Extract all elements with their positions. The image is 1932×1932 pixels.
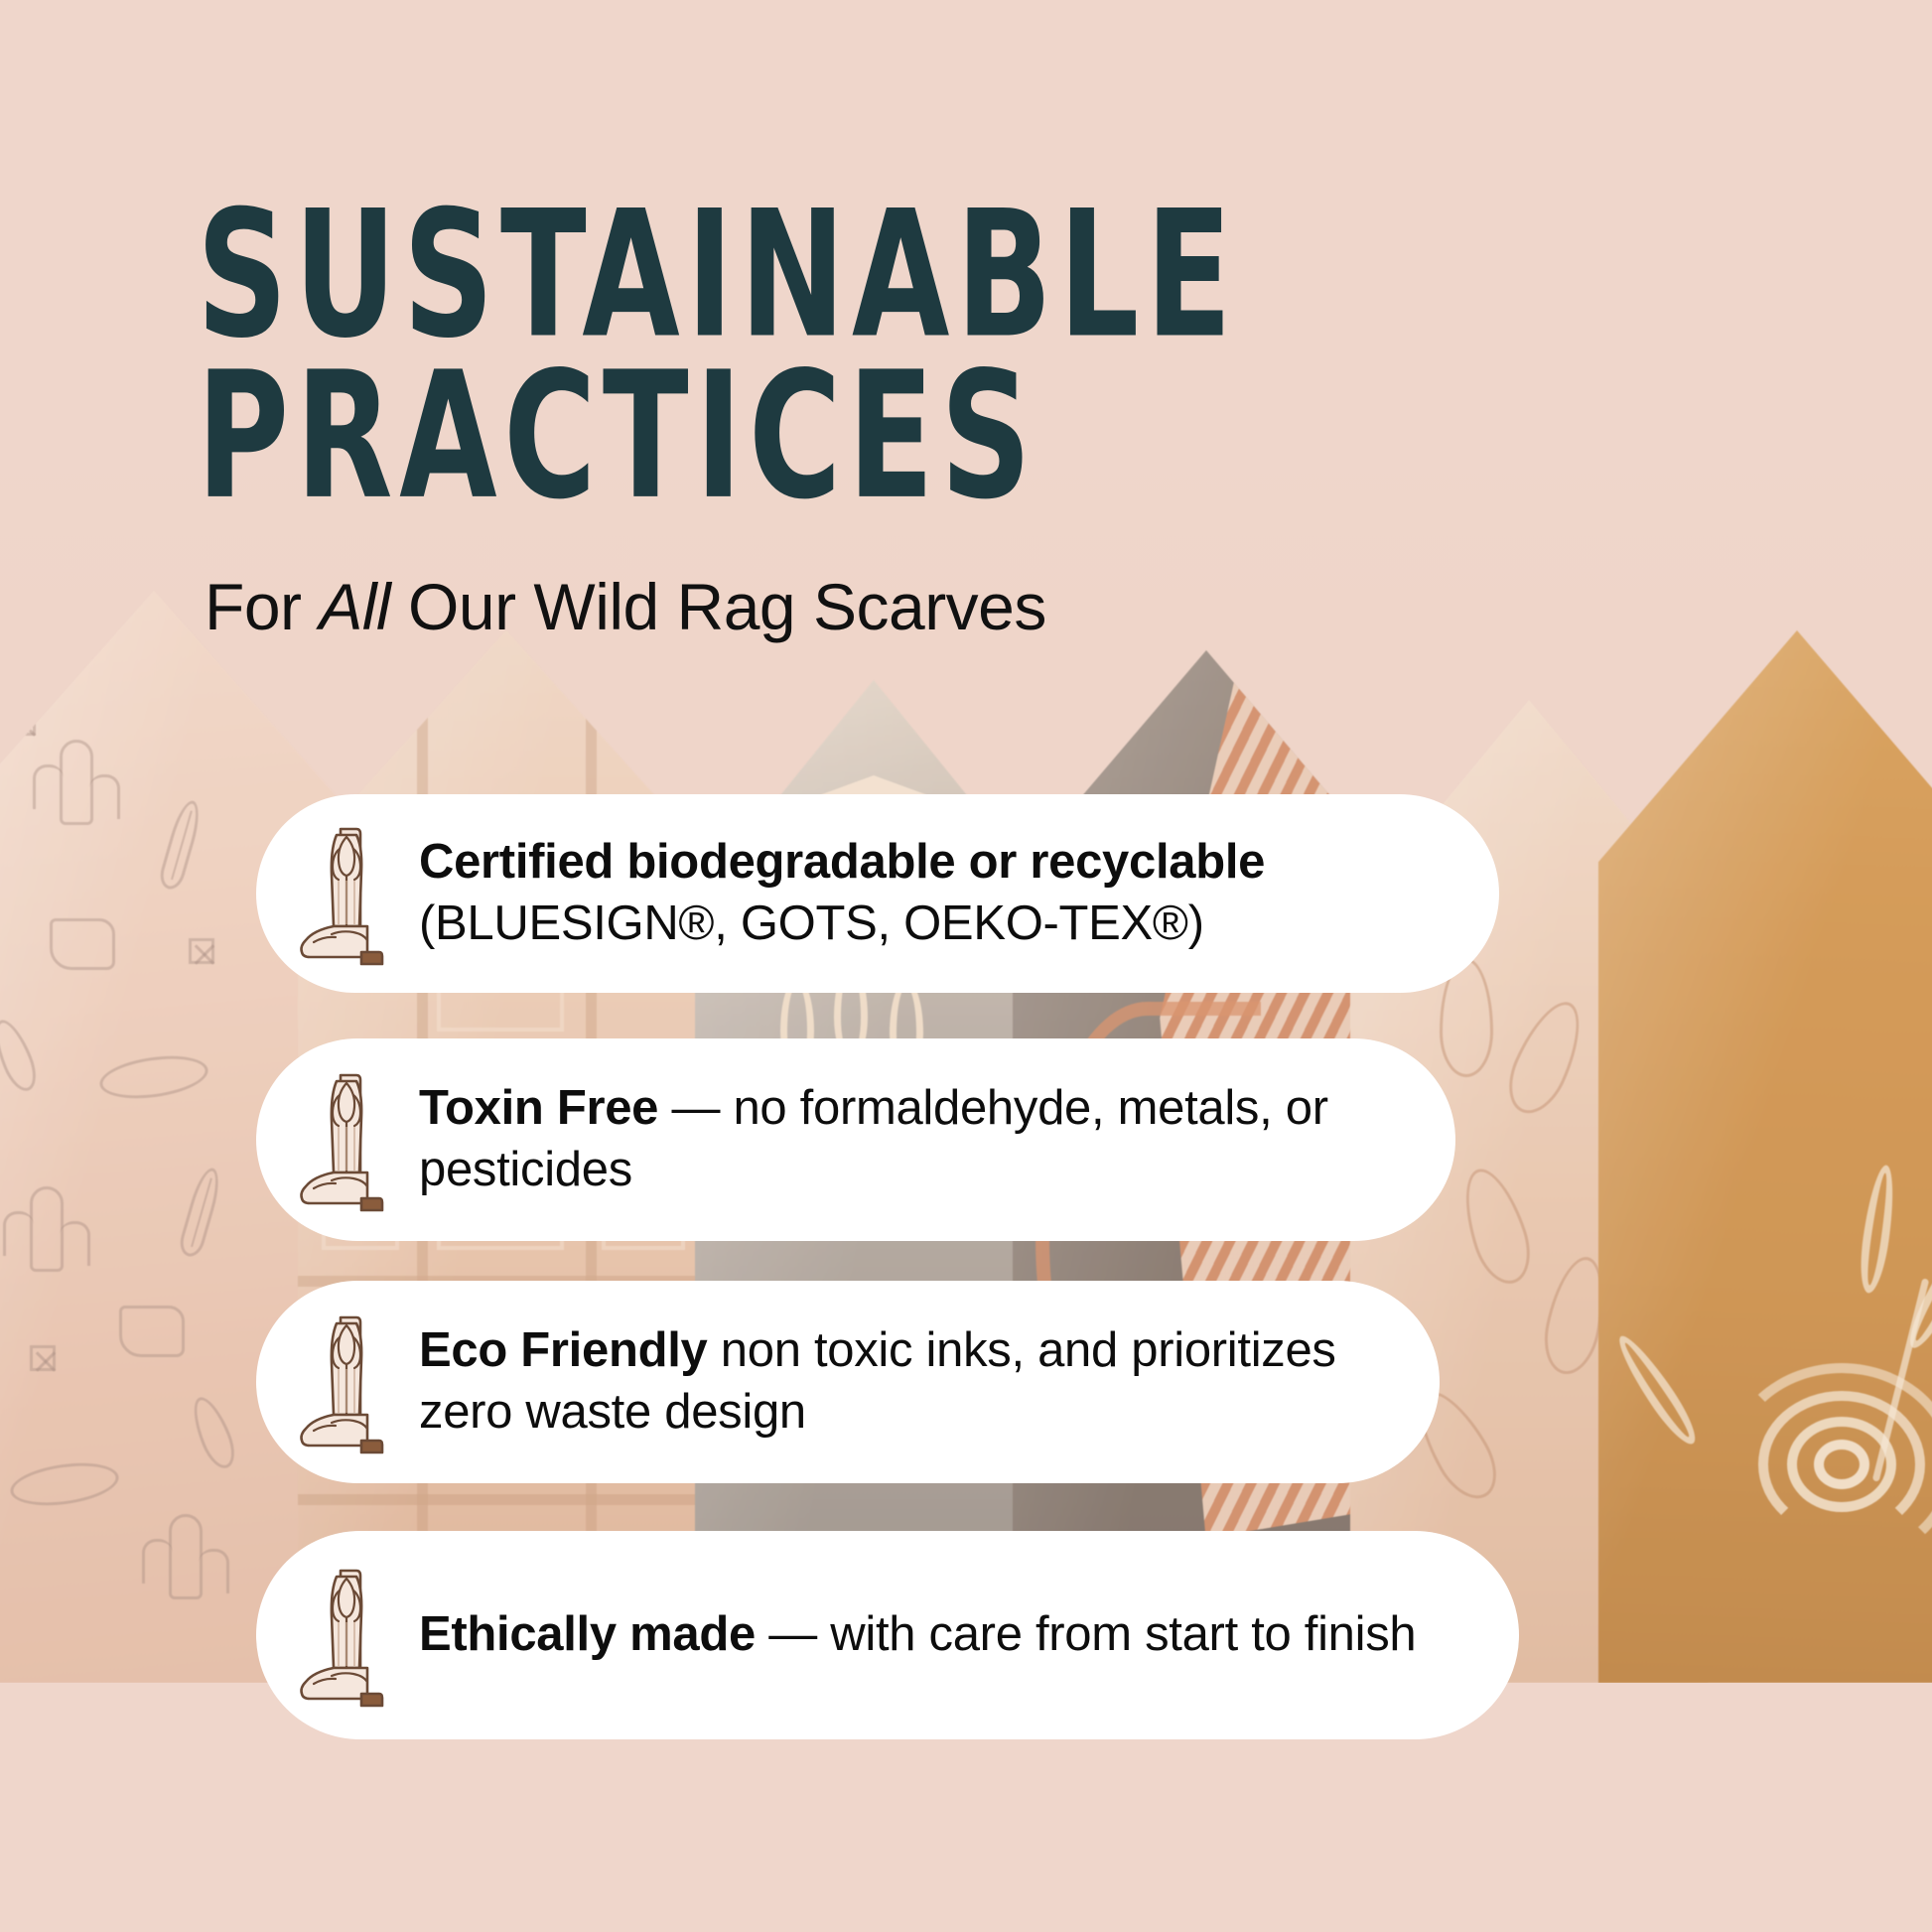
feature-line2: (BLUESIGN®, GOTS, OEKO-TEX®) [419,897,1204,950]
feature-card[interactable]: Ethically made — with care from start to… [256,1531,1519,1739]
poster-canvas: Sustainable Practices For All Our Wild R… [0,0,1932,1932]
feature-card-text: Eco Friendly non toxic inks, and priorit… [419,1320,1396,1443]
feature-bold: Ethically made [419,1607,756,1661]
feature-card-text: Certified biodegradable or recyclable (B… [419,832,1265,954]
cowboy-boot-icon [294,819,397,968]
feature-card-list: Certified biodegradable or recyclable (B… [0,0,1932,1932]
feature-card-text: Ethically made — with care from start to… [419,1604,1416,1666]
feature-bold: Toxin Free [419,1081,658,1135]
feature-card-text: Toxin Free — no formaldehyde, metals, or… [419,1078,1412,1200]
feature-bold: Eco Friendly [419,1323,707,1377]
cowboy-boot-icon [294,1065,397,1214]
feature-card[interactable]: Eco Friendly non toxic inks, and priorit… [256,1281,1440,1483]
cowboy-boot-icon [294,1561,397,1710]
cowboy-boot-icon [294,1308,397,1456]
feature-card[interactable]: Toxin Free — no formaldehyde, metals, or… [256,1038,1455,1241]
feature-rest: — with care from start to finish [756,1607,1416,1661]
feature-bold: Certified biodegradable or recyclable [419,835,1265,889]
feature-card[interactable]: Certified biodegradable or recyclable (B… [256,794,1499,993]
